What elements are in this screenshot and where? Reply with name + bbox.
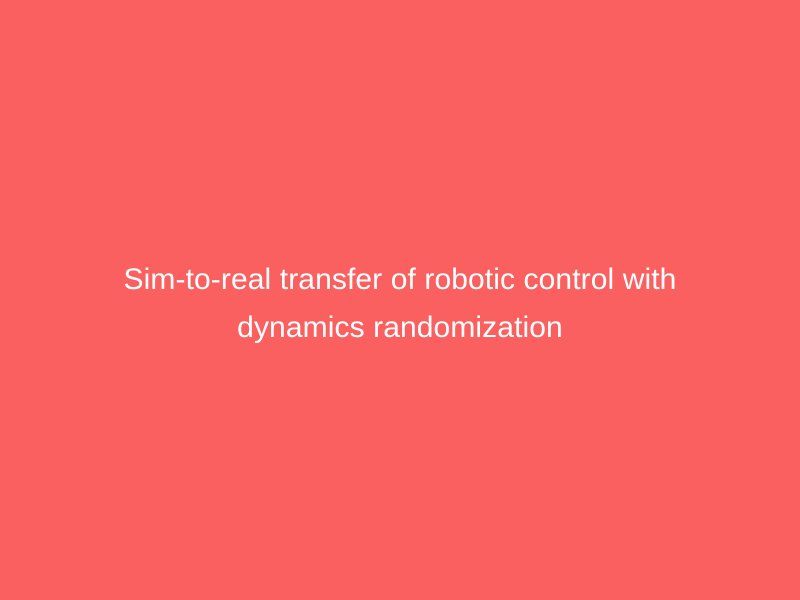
title-block: Sim-to-real transfer of robotic control … bbox=[0, 256, 800, 352]
page-title: Sim-to-real transfer of robotic control … bbox=[60, 256, 740, 352]
title-card: Sim-to-real transfer of robotic control … bbox=[0, 0, 800, 600]
